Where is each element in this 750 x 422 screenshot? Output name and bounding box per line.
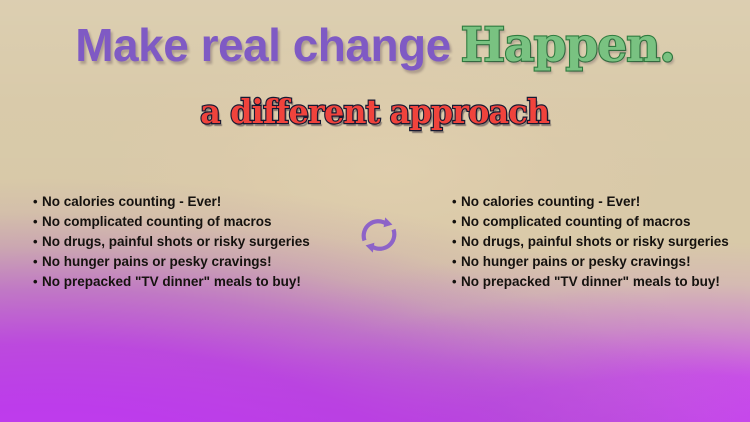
- bullet-dot-icon: •: [452, 192, 461, 212]
- subtitle: a different approach: [0, 92, 750, 131]
- list-item: • No complicated counting of macros: [33, 212, 310, 232]
- benefits-list-right: • No calories counting - Ever! • No comp…: [452, 192, 729, 292]
- bullet-dot-icon: •: [452, 232, 461, 252]
- bullet-dot-icon: •: [33, 192, 42, 212]
- headline-primary-text: Make real change: [75, 19, 451, 71]
- list-item-label: No prepacked "TV dinner" meals to buy!: [42, 272, 301, 292]
- promo-poster: Make real changeHappen. a different appr…: [0, 0, 750, 422]
- benefits-list-left: • No calories counting - Ever! • No comp…: [33, 192, 310, 292]
- list-item-label: No drugs, painful shots or risky surgeri…: [461, 232, 729, 252]
- list-item: • No complicated counting of macros: [452, 212, 729, 232]
- list-item: • No calories counting - Ever!: [452, 192, 729, 212]
- list-item: • No drugs, painful shots or risky surge…: [452, 232, 729, 252]
- list-item-label: No drugs, painful shots or risky surgeri…: [42, 232, 310, 252]
- list-item-label: No prepacked "TV dinner" meals to buy!: [461, 272, 720, 292]
- list-item: • No prepacked "TV dinner" meals to buy!: [33, 272, 310, 292]
- subtitle-text: a different approach: [201, 92, 550, 131]
- list-item-label: No calories counting - Ever!: [461, 192, 640, 212]
- refresh-icon: [358, 213, 400, 257]
- list-item-label: No complicated counting of macros: [42, 212, 272, 232]
- bullet-dot-icon: •: [33, 272, 42, 292]
- headline: Make real changeHappen.: [0, 18, 750, 73]
- bullet-dot-icon: •: [452, 212, 461, 232]
- list-item-label: No hunger pains or pesky cravings!: [461, 252, 691, 272]
- bullet-dot-icon: •: [452, 272, 461, 292]
- bullet-dot-icon: •: [452, 252, 461, 272]
- list-item: • No calories counting - Ever!: [33, 192, 310, 212]
- bullet-dot-icon: •: [33, 212, 42, 232]
- list-item-label: No hunger pains or pesky cravings!: [42, 252, 272, 272]
- headline-accent-text: Happen.: [461, 18, 675, 73]
- list-item: • No prepacked "TV dinner" meals to buy!: [452, 272, 729, 292]
- list-item: • No hunger pains or pesky cravings!: [452, 252, 729, 272]
- bullet-dot-icon: •: [33, 252, 42, 272]
- list-item-label: No complicated counting of macros: [461, 212, 691, 232]
- list-item-label: No calories counting - Ever!: [42, 192, 221, 212]
- list-item: • No hunger pains or pesky cravings!: [33, 252, 310, 272]
- bullet-dot-icon: •: [33, 232, 42, 252]
- list-item: • No drugs, painful shots or risky surge…: [33, 232, 310, 252]
